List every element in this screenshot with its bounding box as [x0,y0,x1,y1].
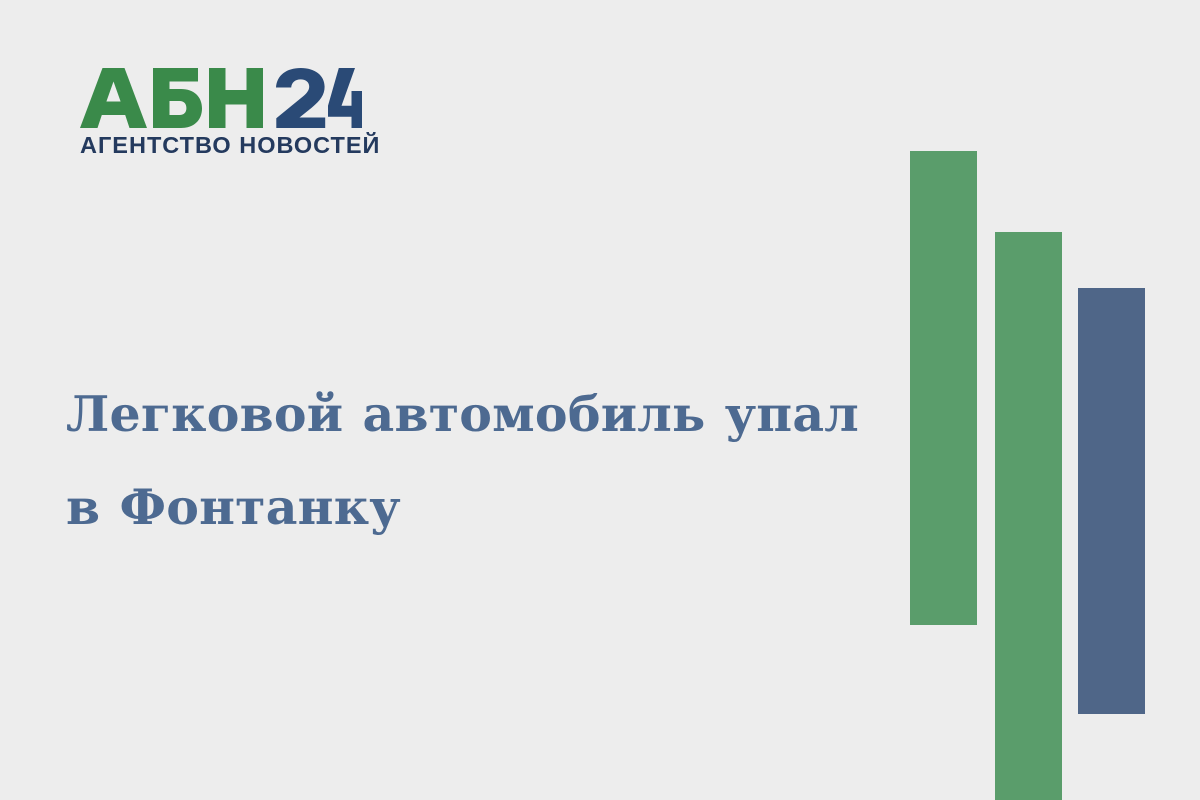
news-card: АГЕНТСТВО НОВОСТЕЙ Легковой автомобиль у… [0,0,1200,800]
page-title: Легковой автомобиль упал в Фонтанку [66,368,866,554]
decorative-bar-1 [910,151,977,625]
brand-logo[interactable]: АГЕНТСТВО НОВОСТЕЙ [80,68,370,158]
abn24-wordmark-icon [80,68,362,128]
decorative-bar-2 [995,232,1062,800]
brand-tagline: АГЕНТСТВО НОВОСТЕЙ [80,134,370,158]
decorative-bar-3 [1078,288,1145,714]
